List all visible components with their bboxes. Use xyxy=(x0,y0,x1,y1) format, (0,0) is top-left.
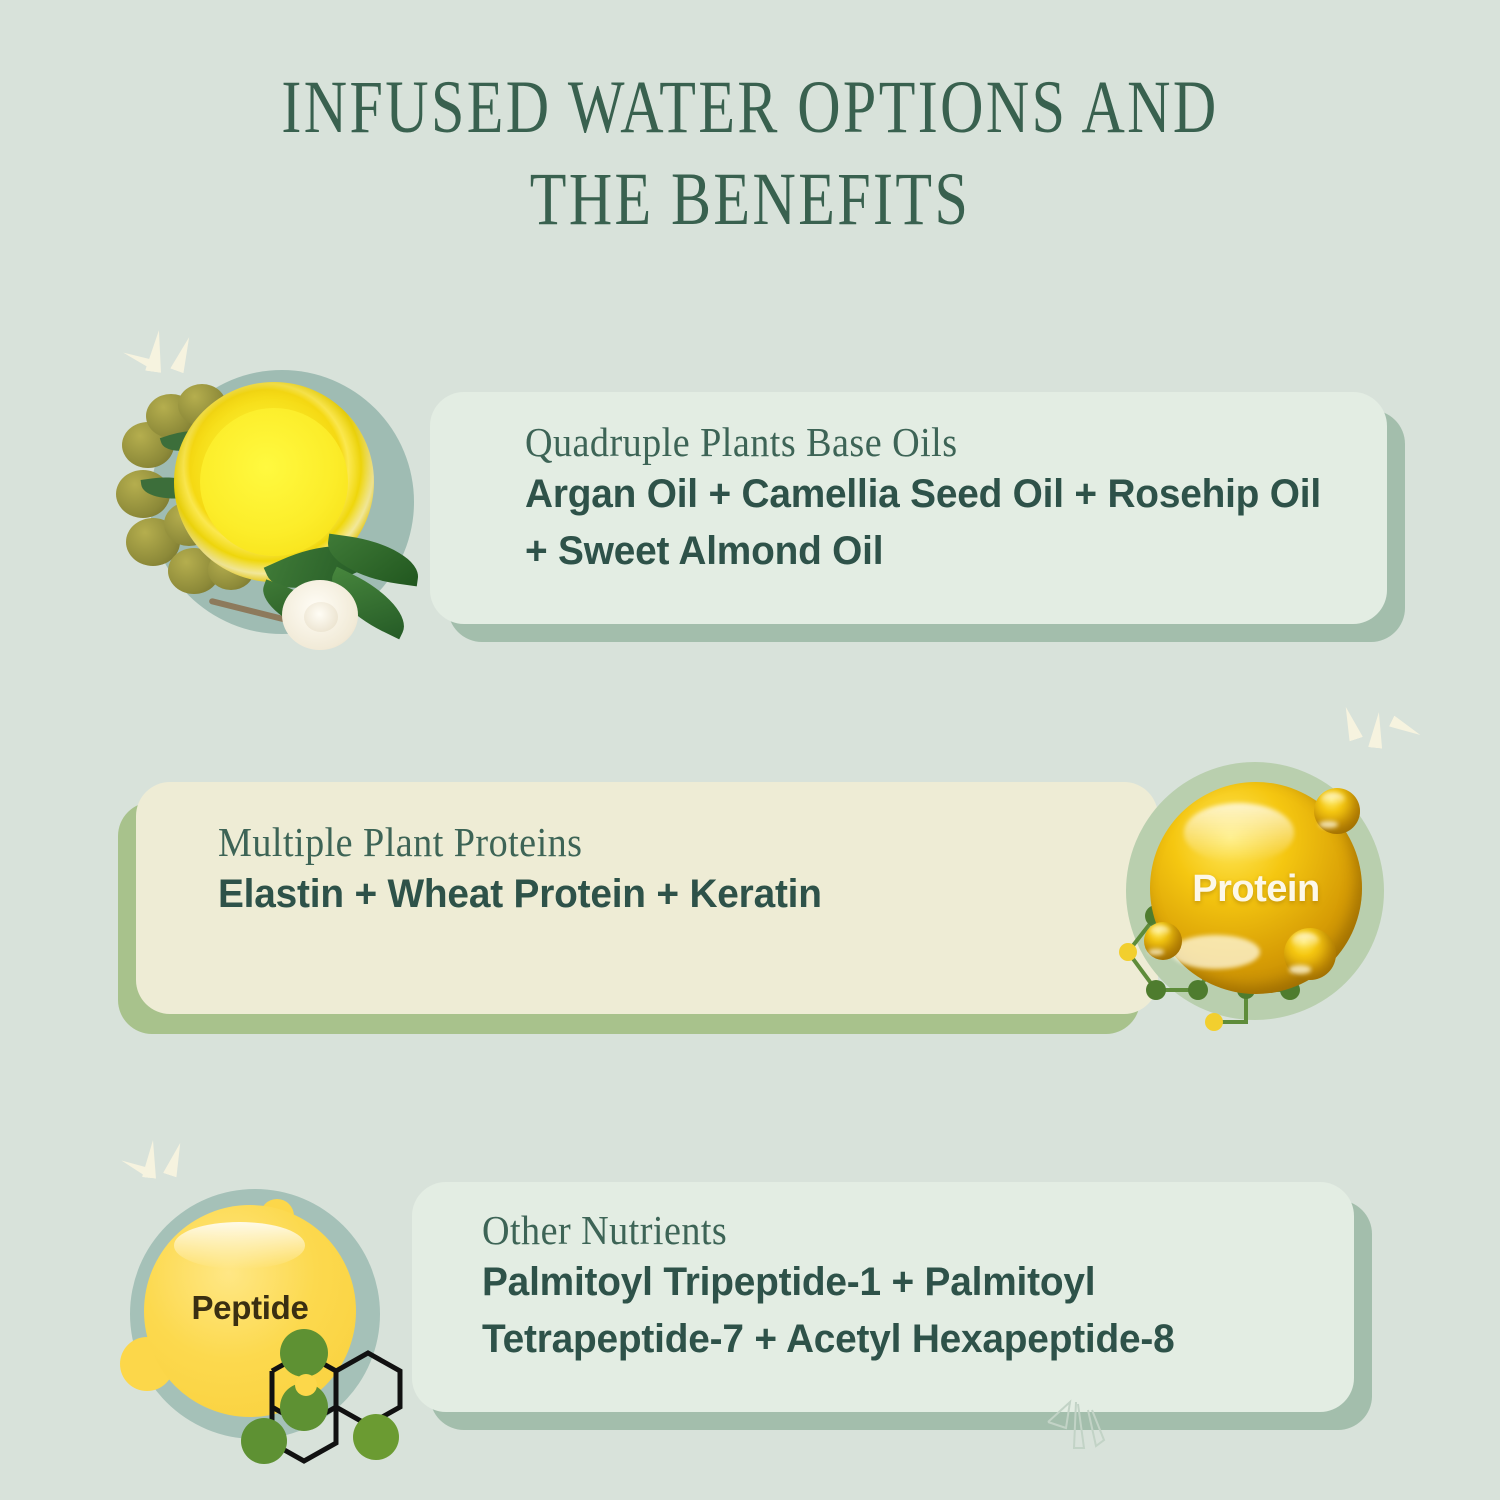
protein-bubble-icon xyxy=(1314,788,1360,834)
molecule-hexagon-icon xyxy=(132,1175,452,1475)
sparkle-icon xyxy=(118,1136,198,1192)
card-ingredients: Argan Oil + Camellia Seed Oil + Rosehip … xyxy=(525,466,1340,580)
card-base-oils: Quadruple Plants Base Oils Argan Oil + C… xyxy=(430,392,1405,642)
card-subtitle: Multiple Plant Proteins xyxy=(218,818,1018,866)
protein-molecule-image: Protein xyxy=(1118,740,1448,1040)
card-ingredients: Palmitoyl Tripeptide-1 + Palmitoyl Tetra… xyxy=(482,1254,1307,1368)
infographic-page: INFUSED WATER OPTIONS AND THE BENEFITS Q… xyxy=(0,0,1500,1500)
card-subtitle: Other Nutrients xyxy=(482,1206,1273,1254)
page-title: INFUSED WATER OPTIONS AND THE BENEFITS xyxy=(150,62,1350,245)
card-subtitle: Quadruple Plants Base Oils xyxy=(525,418,1306,466)
peptide-molecule-image: Peptide xyxy=(112,1165,432,1465)
card-body: Multiple Plant Proteins Elastin + Wheat … xyxy=(218,818,1078,923)
card-body: Quadruple Plants Base Oils Argan Oil + C… xyxy=(525,418,1365,580)
camellia-flower-center-icon xyxy=(304,602,338,632)
sparkle-outline-icon xyxy=(1040,1390,1120,1460)
protein-bubble-icon xyxy=(1284,928,1336,980)
card-other-nutrients: Other Nutrients Palmitoyl Tripeptide-1 +… xyxy=(412,1182,1372,1432)
protein-label: Protein xyxy=(1150,868,1362,911)
protein-bubble-icon xyxy=(1144,922,1182,960)
card-body: Other Nutrients Palmitoyl Tripeptide-1 +… xyxy=(482,1206,1332,1368)
sparkle-icon xyxy=(120,322,200,382)
card-ingredients: Elastin + Wheat Protein + Keratin xyxy=(218,866,1052,923)
card-plant-proteins: Multiple Plant Proteins Elastin + Wheat … xyxy=(118,782,1158,1042)
sparkle-icon xyxy=(1340,700,1420,760)
olive-oil-bowl-image xyxy=(112,352,412,652)
